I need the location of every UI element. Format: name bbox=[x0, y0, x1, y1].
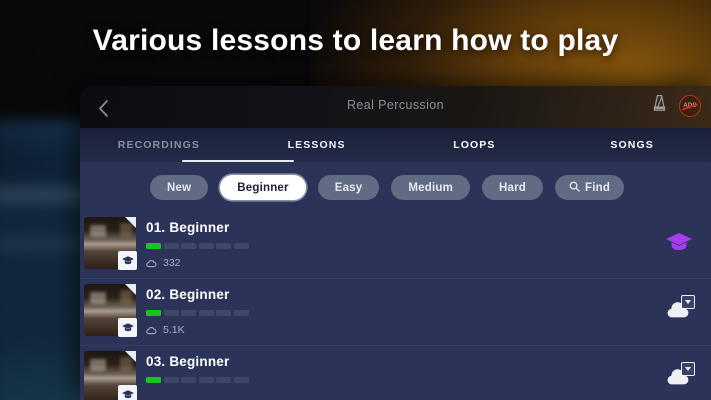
lesson-download-count: 5.1K bbox=[146, 324, 647, 336]
filter-pill-new[interactable]: New bbox=[150, 175, 208, 200]
lesson-progress bbox=[146, 243, 647, 249]
progress-segment bbox=[181, 243, 196, 249]
lesson-action[interactable] bbox=[647, 366, 711, 392]
filter-pill-easy[interactable]: Easy bbox=[318, 175, 380, 200]
metronome-icon[interactable] bbox=[652, 94, 667, 117]
download-badge-icon bbox=[681, 362, 695, 376]
tab-active-underline bbox=[182, 160, 294, 162]
thumbnail-corner-fold bbox=[125, 217, 136, 228]
progress-segment bbox=[164, 377, 179, 383]
thumbnail-corner-fold bbox=[125, 351, 136, 362]
progress-segment bbox=[181, 310, 196, 316]
progress-segment bbox=[164, 310, 179, 316]
progress-segment bbox=[234, 310, 249, 316]
progress-segment bbox=[216, 310, 231, 316]
lesson-thumbnail bbox=[84, 217, 136, 269]
filter-pill-medium[interactable]: Medium bbox=[391, 175, 470, 200]
graduation-cap-icon[interactable] bbox=[666, 233, 692, 257]
list-item[interactable]: 02. Beginner 5.1K bbox=[80, 278, 711, 345]
app-header: Real Percussion ADS bbox=[80, 86, 711, 128]
tab-songs[interactable]: SONGS bbox=[553, 128, 711, 162]
progress-segment bbox=[199, 310, 214, 316]
progress-segment bbox=[146, 243, 161, 249]
lesson-info: 02. Beginner 5.1K bbox=[146, 279, 647, 336]
ads-badge[interactable]: ADS bbox=[679, 95, 701, 117]
graduation-cap-icon bbox=[118, 385, 137, 400]
download-count-label: 332 bbox=[163, 257, 181, 269]
lesson-thumbnail bbox=[84, 284, 136, 336]
app-window: Real Percussion ADS RECORDINGS LESSONS L… bbox=[80, 86, 711, 400]
tab-bar: RECORDINGS LESSONS LOOPS SONGS bbox=[80, 128, 711, 162]
graduation-cap-icon bbox=[118, 318, 137, 337]
progress-segment bbox=[146, 310, 161, 316]
download-count-label: 5.1K bbox=[163, 324, 185, 336]
tab-loops[interactable]: LOOPS bbox=[396, 128, 554, 162]
search-icon bbox=[569, 181, 580, 195]
cloud-download-icon[interactable] bbox=[665, 366, 693, 392]
lesson-list: 01. Beginner 332 bbox=[80, 212, 711, 400]
lesson-action[interactable] bbox=[647, 299, 711, 325]
lesson-title: 02. Beginner bbox=[146, 287, 647, 302]
header-actions: ADS bbox=[652, 94, 701, 117]
cloud-icon bbox=[146, 259, 157, 268]
page-title: Various lessons to learn how to play bbox=[0, 24, 711, 58]
lesson-title: 03. Beginner bbox=[146, 354, 647, 369]
progress-segment bbox=[181, 377, 196, 383]
lesson-info: 01. Beginner 332 bbox=[146, 212, 647, 269]
progress-segment bbox=[164, 243, 179, 249]
lesson-info: 03. Beginner bbox=[146, 346, 647, 383]
thumbnail-corner-fold bbox=[125, 284, 136, 295]
lesson-progress bbox=[146, 310, 647, 316]
progress-segment bbox=[199, 377, 214, 383]
filter-pill-hard[interactable]: Hard bbox=[482, 175, 543, 200]
filter-pill-beginner[interactable]: Beginner bbox=[220, 175, 305, 200]
list-item[interactable]: 03. Beginner bbox=[80, 345, 711, 400]
tab-recordings[interactable]: RECORDINGS bbox=[80, 128, 238, 162]
download-badge-icon bbox=[681, 295, 695, 309]
tab-lessons[interactable]: LESSONS bbox=[238, 128, 396, 162]
lesson-thumbnail bbox=[84, 351, 136, 400]
lesson-progress bbox=[146, 377, 647, 383]
progress-segment bbox=[216, 243, 231, 249]
lesson-download-count: 332 bbox=[146, 257, 647, 269]
graduation-cap-icon bbox=[118, 251, 137, 270]
screenshot-root: Various lessons to learn how to play Rea… bbox=[0, 0, 711, 400]
progress-segment bbox=[234, 377, 249, 383]
lesson-title: 01. Beginner bbox=[146, 220, 647, 235]
cloud-download-icon[interactable] bbox=[665, 299, 693, 325]
progress-segment bbox=[234, 243, 249, 249]
progress-segment bbox=[146, 377, 161, 383]
app-title: Real Percussion bbox=[80, 98, 711, 112]
filter-pill-row: New Beginner Easy Medium Hard Find bbox=[80, 162, 711, 212]
lesson-action[interactable] bbox=[647, 233, 711, 257]
progress-segment bbox=[199, 243, 214, 249]
list-item[interactable]: 01. Beginner 332 bbox=[80, 212, 711, 278]
filter-pill-find-label: Find bbox=[585, 182, 610, 194]
cloud-icon bbox=[146, 326, 157, 335]
filter-pill-find[interactable]: Find bbox=[555, 175, 624, 200]
progress-segment bbox=[216, 377, 231, 383]
